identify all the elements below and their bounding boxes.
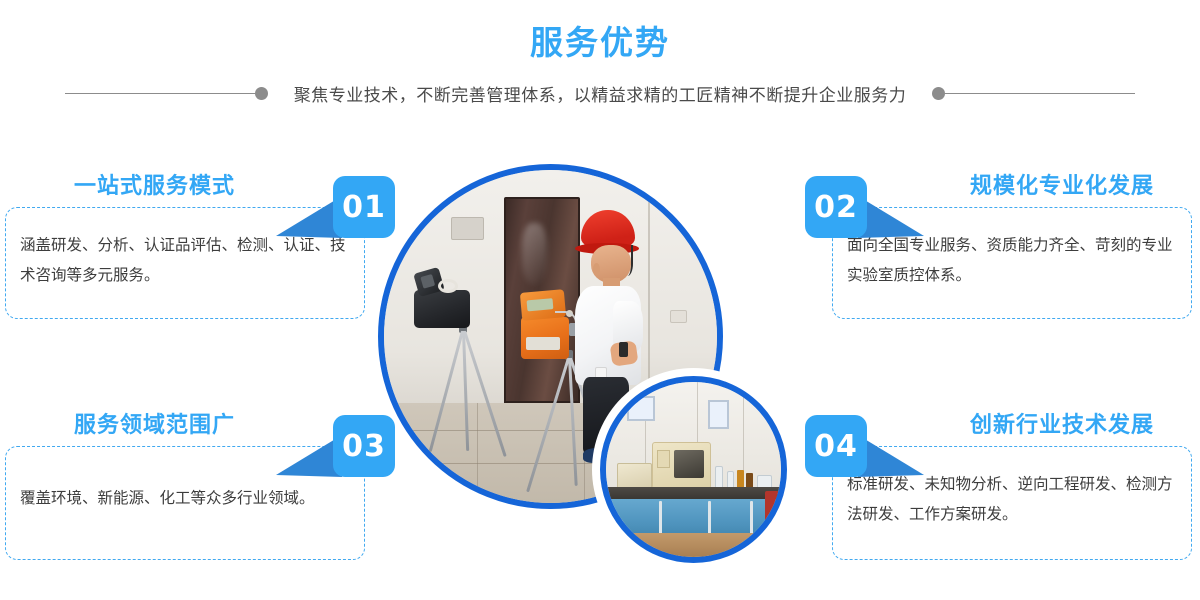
oven-door xyxy=(674,450,704,478)
wrist-watch xyxy=(619,342,628,357)
inset-circular-photo xyxy=(600,376,787,563)
card-number-badge-04: 04 xyxy=(805,415,867,477)
reagent-bottle xyxy=(737,470,744,489)
lab-bench-top xyxy=(606,487,781,499)
air-sampler-orange xyxy=(521,317,569,359)
lab-drying-oven xyxy=(652,442,712,489)
technician-ear xyxy=(593,263,600,276)
divider-dot-left xyxy=(255,87,268,100)
lab-glassware xyxy=(715,466,724,489)
divider-line-left xyxy=(65,93,255,94)
card-title-01: 一站式服务模式 xyxy=(74,168,235,200)
divider-dot-right xyxy=(932,87,945,100)
pennant-arrow-04 xyxy=(858,435,924,477)
card-title-04: 创新行业技术发展 xyxy=(970,407,1154,439)
page-subtitle: 聚焦专业技术，不断完善管理体系，以精益求精的工匠精神不断提升企业服务力 xyxy=(268,81,933,106)
oven-control-panel xyxy=(657,450,670,468)
tripod-left xyxy=(421,323,511,468)
card-number-badge-02: 02 xyxy=(805,176,867,238)
page-title: 服务优势 xyxy=(0,16,1200,64)
card-title-02: 规模化专业化发展 xyxy=(970,168,1154,200)
photo-composition xyxy=(378,164,798,584)
lab-floor xyxy=(606,533,781,558)
wall-switch xyxy=(670,310,687,323)
waste-bin xyxy=(765,491,779,526)
certificate-frame xyxy=(708,400,729,430)
lab-control-unit xyxy=(617,463,652,489)
subtitle-row: 聚焦专业技术，不断完善管理体系，以精益求精的工匠精神不断提升企业服务力 xyxy=(0,78,1200,108)
air-sampler-dark xyxy=(414,290,470,328)
door-reflection xyxy=(522,223,547,284)
lab-photo-scene xyxy=(606,382,781,557)
pennant-arrow-02 xyxy=(858,196,924,238)
divider-line-right xyxy=(945,93,1135,94)
card-title-03: 服务领域范围广 xyxy=(74,407,235,439)
certificate-frame xyxy=(627,396,655,421)
wall-access-panel xyxy=(451,217,484,240)
service-advantages-page: 服务优势 聚焦专业技术，不断完善管理体系，以精益求精的工匠精神不断提升企业服务力… xyxy=(0,0,1200,600)
